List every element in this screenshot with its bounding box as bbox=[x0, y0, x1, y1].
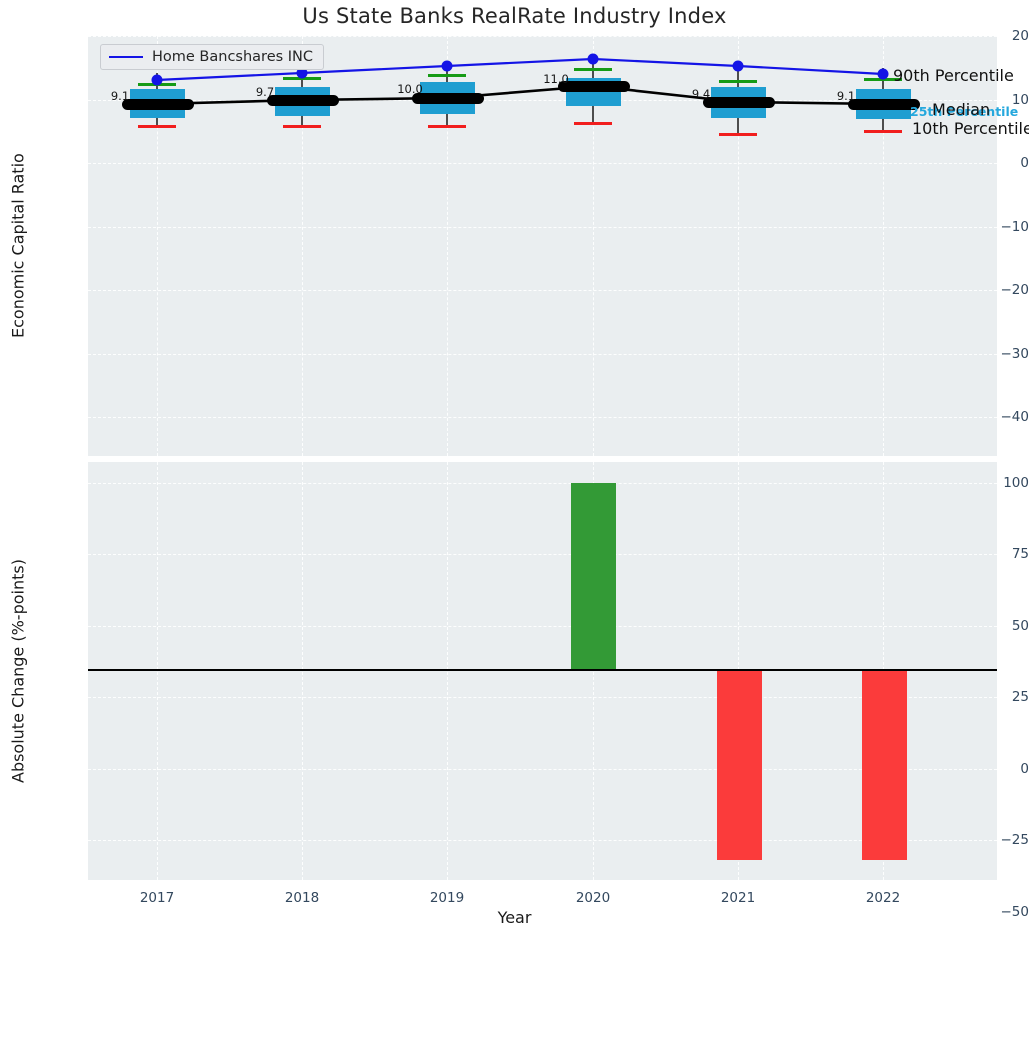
legend-line-swatch bbox=[109, 56, 143, 58]
page-title: Us State Banks RealRate Industry Index bbox=[0, 4, 1029, 28]
x-tick-2019: 2019 bbox=[402, 890, 492, 906]
gridline-bot-m75 bbox=[88, 983, 997, 984]
x-axis-label: Year bbox=[0, 908, 1029, 927]
vgridline-bot-2017 bbox=[157, 462, 158, 880]
y-tick-bot-3: 25 bbox=[951, 689, 1029, 705]
gridline-bot-0 bbox=[88, 769, 997, 770]
x-tick-2018: 2018 bbox=[257, 890, 347, 906]
x-tick-2017: 2017 bbox=[112, 890, 202, 906]
y-tick-bot-0: 100 bbox=[951, 475, 1029, 491]
vgridline-bot-2019 bbox=[447, 462, 448, 880]
bar-2022 bbox=[862, 671, 907, 860]
y-tick-top-6: −40 bbox=[951, 409, 1029, 425]
vgridline-bot-2018 bbox=[302, 462, 303, 880]
y-tick-top-5: −30 bbox=[951, 346, 1029, 362]
annotation-10th-percentile: 10th Percentile bbox=[912, 119, 1029, 138]
y-axis-label-bottom: Absolute Change (%-points) bbox=[6, 462, 30, 880]
annotation-90th-percentile: 90th Percentile bbox=[893, 66, 1014, 85]
y-tick-top-2: 0 bbox=[951, 155, 1029, 171]
bar-2021 bbox=[717, 671, 762, 860]
y-tick-bot-2: 50 bbox=[951, 618, 1029, 634]
y-tick-bot-4: 0 bbox=[951, 761, 1029, 777]
y-tick-bot-1: 75 bbox=[951, 546, 1029, 562]
bar-2020 bbox=[571, 483, 616, 669]
y-tick-bot-6: −50 bbox=[951, 904, 1029, 920]
legend[interactable]: Home Bancshares INC bbox=[100, 44, 324, 70]
gridline-bot-75 bbox=[88, 554, 997, 555]
gridline-bot-100 bbox=[88, 483, 997, 484]
y-tick-top-4: −20 bbox=[951, 282, 1029, 298]
y-tick-bot-5: −25 bbox=[951, 832, 1029, 848]
gridline-bot-50 bbox=[88, 626, 997, 627]
y-axis-label-top: Economic Capital Ratio bbox=[6, 36, 30, 456]
y-tick-top-3: −10 bbox=[951, 219, 1029, 235]
box-plot-panel: 9.1 9.7 10.0 11.0 9.4 9.1 bbox=[88, 36, 997, 456]
bar-chart-panel bbox=[88, 462, 997, 880]
gridline-bot-25 bbox=[88, 697, 997, 698]
median-trend-line bbox=[88, 36, 997, 456]
y-tick-top-1: 10 bbox=[951, 92, 1029, 108]
x-tick-2022: 2022 bbox=[838, 890, 928, 906]
legend-label-home-bancshares: Home Bancshares INC bbox=[152, 49, 313, 65]
x-tick-2021: 2021 bbox=[693, 890, 783, 906]
zero-baseline bbox=[88, 669, 997, 671]
y-tick-top-0: 20 bbox=[951, 28, 1029, 44]
x-tick-2020: 2020 bbox=[548, 890, 638, 906]
gridline-bot-m25 bbox=[88, 840, 997, 841]
